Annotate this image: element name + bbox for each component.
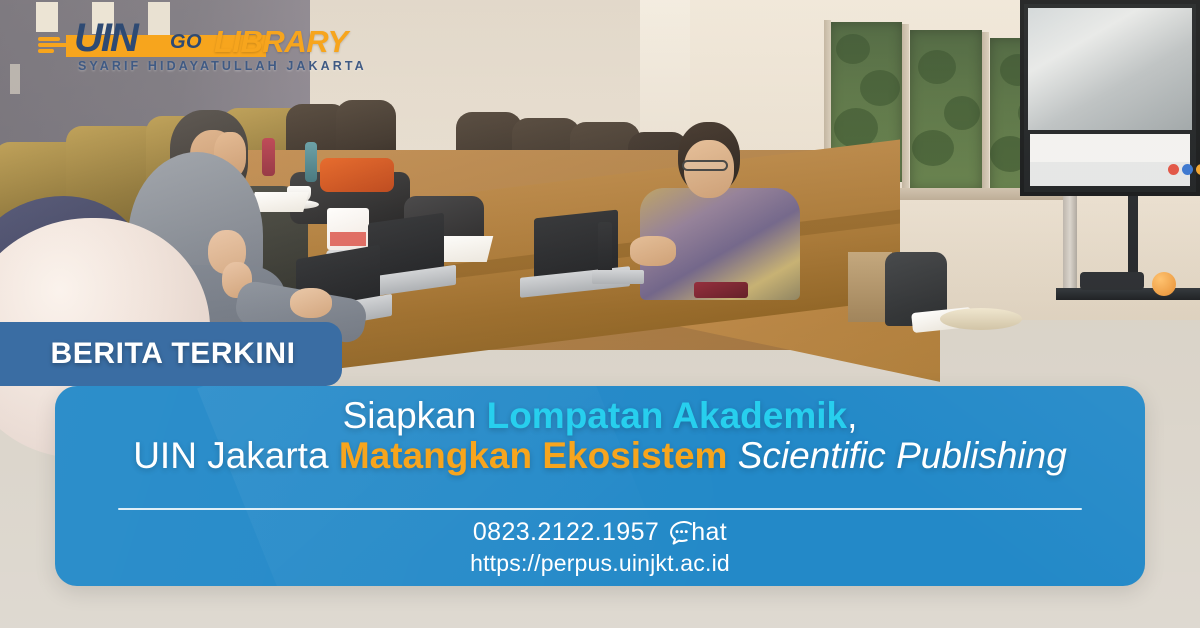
headline-seg-italic: Scientific Publishing (727, 435, 1066, 476)
logo-library-text: LIBRARY (214, 24, 348, 60)
contact-phone-row: 0823.2122.1957 hat (55, 518, 1145, 547)
headline-panel: Siapkan Lompatan Akademik, UIN Jakarta M… (55, 386, 1145, 586)
website-url[interactable]: https://perpus.uinjkt.ac.id (55, 550, 1145, 577)
news-banner: UIN GO LIBRARY SYARIF HIDAYATULLAH JAKAR… (0, 0, 1200, 628)
phone-number[interactable]: 0823.2122.1957 (473, 518, 659, 547)
headline-seg-white: UIN Jakarta (133, 435, 339, 476)
headline-seg-white: Siapkan (343, 395, 487, 436)
chat-bubble-icon (668, 521, 694, 545)
headline-line-1: Siapkan Lompatan Akademik, (55, 396, 1145, 436)
page-title: Siapkan Lompatan Akademik, UIN Jakarta M… (55, 396, 1145, 476)
chat-label-group[interactable]: hat (668, 518, 727, 547)
contact-block: 0823.2122.1957 hat https://perpus.uinjkt… (55, 518, 1145, 577)
status-badge: BERITA TERKINI (0, 322, 342, 386)
divider (118, 508, 1082, 510)
logo-go-text: GO (170, 31, 202, 54)
logo-uin-text: UIN (74, 16, 137, 61)
logo-subtitle: SYARIF HIDAYATULLAH JAKARTA (78, 59, 367, 73)
badge-label: BERITA TERKINI (26, 337, 295, 371)
headline-seg-comma: , (847, 395, 857, 436)
headline-seg-orange: Matangkan Ekosistem (339, 435, 728, 476)
headline-seg-cyan: Lompatan Akademik (487, 395, 848, 436)
headline-line-2: UIN Jakarta Matangkan Ekosistem Scientif… (55, 436, 1145, 476)
speed-lines-icon (38, 37, 68, 55)
chat-label: hat (691, 518, 727, 547)
uin-go-library-logo[interactable]: UIN GO LIBRARY SYARIF HIDAYATULLAH JAKAR… (30, 18, 320, 76)
